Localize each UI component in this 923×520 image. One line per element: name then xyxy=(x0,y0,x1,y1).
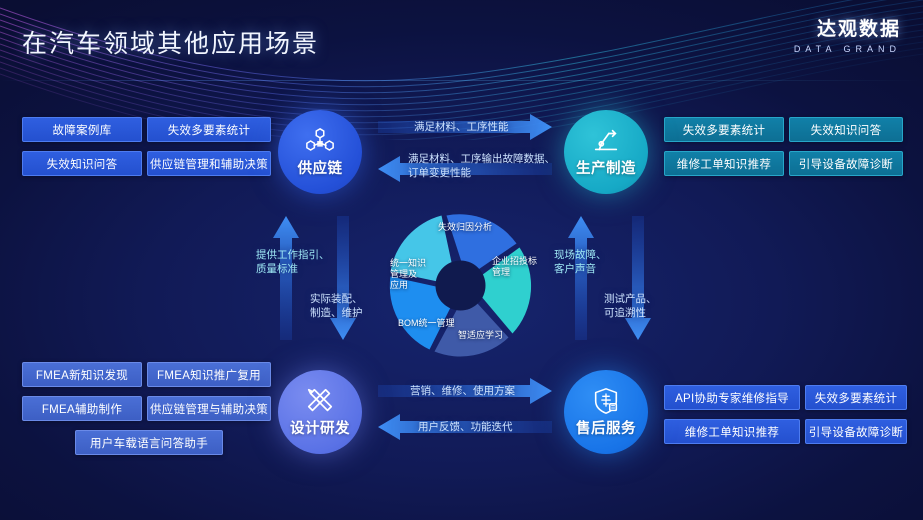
network-nodes-icon xyxy=(305,126,335,156)
wheel-label-knowledge-unified-line3: 应用 xyxy=(390,280,408,291)
flow-label-right-down-line2: 可追溯性 xyxy=(604,306,646,320)
hub-manufacturing-label: 生产制造 xyxy=(576,157,636,178)
pencil-ruler-icon xyxy=(305,386,335,416)
hub-design-rd-label: 设计研发 xyxy=(290,417,350,438)
arrow-manufacturing-to-service xyxy=(625,216,651,340)
hub-supply-chain-label: 供应链 xyxy=(298,157,343,178)
flow-label-right-up-line2: 客户声音 xyxy=(554,262,596,276)
wheel-label-failure-cause: 失效归因分析 xyxy=(438,222,492,233)
flow-label-left-down-line1: 实际装配、 xyxy=(310,292,363,306)
hub-after-sales-label: 售后服务 xyxy=(576,417,636,438)
wheel-label-knowledge-unified-line2: 管理及 xyxy=(390,269,417,280)
flow-label-right-down-line1: 测试产品、 xyxy=(604,292,657,306)
flow-label-top-right: 满足材料、工序性能 xyxy=(414,120,509,134)
flow-label-left-down-line2: 制造、维护 xyxy=(310,306,363,320)
wheel-label-knowledge-unified-line1: 统一知识 xyxy=(390,258,426,269)
flow-label-top-left-line1: 满足材料、工序输出故障数据、 xyxy=(408,152,555,166)
slide-canvas: 在汽车领域其他应用场景 达观数据 DATA GRAND 故障案例库 失效多要素统… xyxy=(0,0,923,520)
wheel-label-bidding-mgmt-line1: 企业招投标 xyxy=(492,256,537,267)
wheel-label-adaptive-learning: 智适应学习 xyxy=(458,330,503,341)
hub-after-sales[interactable]: 售后服务 xyxy=(564,370,648,454)
arrow-supply-to-design xyxy=(330,216,356,340)
hub-design-rd[interactable]: 设计研发 xyxy=(278,370,362,454)
flow-label-bottom-right: 营销、维修、使用方案 xyxy=(410,384,515,398)
arrow-design-to-supply xyxy=(273,216,299,340)
arrow-service-to-manufacturing xyxy=(568,216,594,340)
flow-label-left-up-line1: 提供工作指引、 xyxy=(256,248,330,262)
flow-label-right-up-line1: 现场故障、 xyxy=(554,248,607,262)
flow-label-top-left-line2: 订单变更性能 xyxy=(408,166,471,180)
wheel-label-bom-unified: BOM统一管理 xyxy=(398,318,455,329)
flow-label-left-up-line2: 质量标准 xyxy=(256,262,298,276)
hub-manufacturing[interactable]: 生产制造 xyxy=(564,110,648,194)
robot-arm-icon xyxy=(591,126,621,156)
hub-supply-chain[interactable]: 供应链 xyxy=(278,110,362,194)
shield-service-icon xyxy=(591,386,621,416)
wheel-label-bidding-mgmt-line2: 管理 xyxy=(492,267,510,278)
flow-label-bottom-left: 用户反馈、功能迭代 xyxy=(418,420,513,434)
